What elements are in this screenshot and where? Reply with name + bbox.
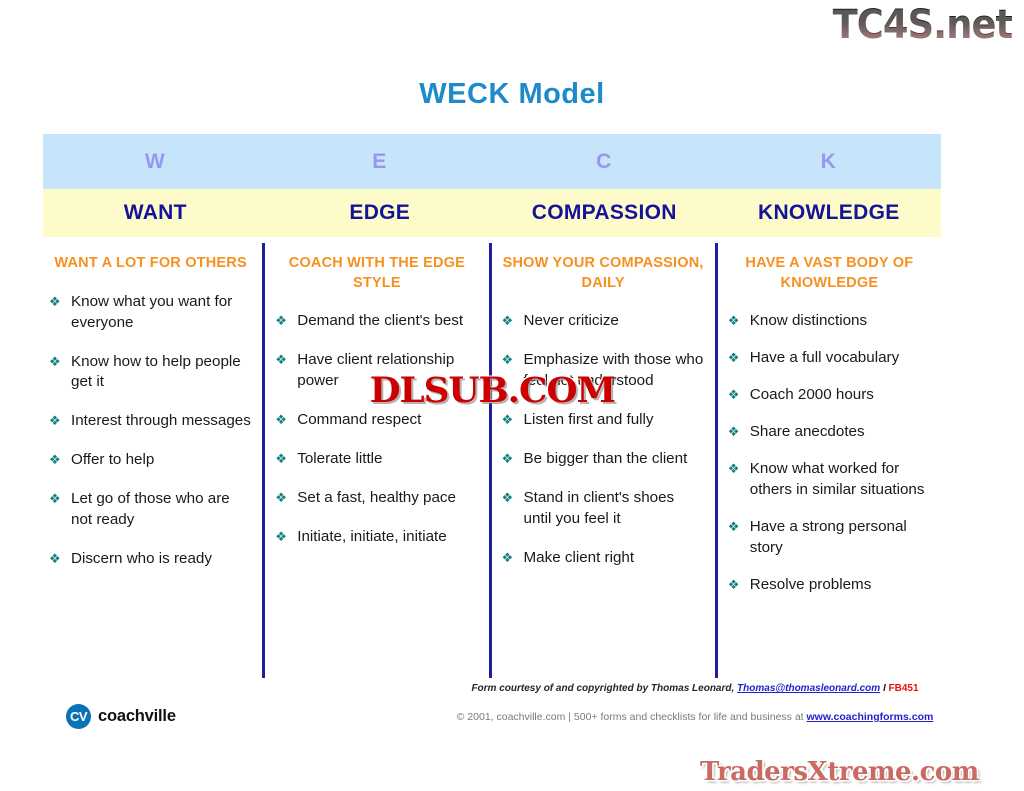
dlsub-watermark-text: DLSUB.COM (370, 370, 615, 411)
list-item: ❖Know what you want for everyone (49, 292, 252, 334)
diamond-bullet-icon: ❖ (728, 517, 740, 537)
column-edge: COACH WITH THE EDGE STYLE ❖Demand the cl… (262, 243, 488, 678)
list-item-label: Know distinctions (750, 312, 867, 329)
column-name-compassion: COMPASSION (532, 201, 677, 225)
name-cell-edge: EDGE (268, 189, 493, 237)
name-cell-want: WANT (43, 189, 268, 237)
diamond-bullet-icon: ❖ (275, 527, 287, 547)
list-item: ❖Know what worked for others in similar … (728, 459, 931, 501)
list-item-label: Have a strong personal story (750, 518, 907, 556)
list-item-label: Set a fast, healthy pace (297, 489, 456, 506)
list-item: ❖Have a strong personal story (728, 517, 931, 559)
letter-cell-c: C (492, 134, 717, 189)
diamond-bullet-icon: ❖ (275, 311, 287, 331)
name-cell-compassion: COMPASSION (492, 189, 717, 237)
diamond-bullet-icon: ❖ (728, 459, 740, 479)
diamond-bullet-icon: ❖ (728, 385, 740, 405)
page-title: WECK Model (0, 78, 1024, 111)
diamond-bullet-icon: ❖ (275, 488, 287, 508)
list-item-label: Know how to help people get it (71, 353, 241, 391)
column-name-edge: EDGE (349, 201, 410, 225)
diamond-bullet-icon: ❖ (728, 348, 740, 368)
diamond-bullet-icon: ❖ (275, 410, 287, 430)
letter-cell-w: W (43, 134, 268, 189)
list-item-label: Stand in client's shoes until you feel i… (524, 489, 675, 527)
footer-credit-separator: I (880, 683, 888, 694)
dlsub-watermark: DLSUB.COM (370, 370, 615, 411)
list-item: ❖Interest through messages (49, 411, 252, 432)
name-cell-knowledge: KNOWLEDGE (717, 189, 942, 237)
list-item: ❖Be bigger than the client (502, 449, 705, 470)
diamond-bullet-icon: ❖ (502, 449, 514, 469)
list-item: ❖Command respect (275, 410, 478, 431)
list-item: ❖Set a fast, healthy pace (275, 488, 478, 509)
bullet-list-compassion: ❖Never criticize ❖Emphasize with those w… (502, 311, 705, 569)
diamond-bullet-icon: ❖ (502, 311, 514, 331)
list-item: ❖Make client right (502, 548, 705, 569)
list-item-label: Resolve problems (750, 576, 872, 593)
diamond-bullet-icon: ❖ (49, 549, 61, 569)
names-header-row: WANT EDGE COMPASSION KNOWLEDGE (43, 189, 941, 237)
diamond-bullet-icon: ❖ (49, 411, 61, 431)
coachingforms-link[interactable]: www.coachingforms.com (807, 711, 934, 723)
list-item-label: Never criticize (524, 312, 619, 329)
column-heading-edge: COACH WITH THE EDGE STYLE (275, 254, 478, 293)
diamond-bullet-icon: ❖ (49, 292, 61, 312)
bullet-list-edge: ❖Demand the client's best ❖Have client r… (275, 311, 478, 548)
diamond-bullet-icon: ❖ (49, 352, 61, 372)
diamond-bullet-icon: ❖ (502, 410, 514, 430)
column-name-want: WANT (124, 201, 187, 225)
diamond-bullet-icon: ❖ (502, 548, 514, 568)
list-item-label: Make client right (524, 549, 635, 566)
list-item: ❖Tolerate little (275, 449, 478, 470)
diamond-bullet-icon: ❖ (502, 488, 514, 508)
list-item-label: Command respect (297, 411, 421, 428)
column-compassion: SHOW YOUR COMPASSION, DAILY ❖Never criti… (489, 243, 715, 678)
list-item: ❖Discern who is ready (49, 549, 252, 570)
list-item-label: Listen first and fully (524, 411, 654, 428)
diamond-bullet-icon: ❖ (275, 449, 287, 469)
list-item: ❖Resolve problems (728, 575, 931, 596)
diamond-bullet-icon: ❖ (728, 422, 740, 442)
list-item-label: Know what you want for everyone (71, 293, 232, 331)
list-item-label: Know what worked for others in similar s… (750, 460, 925, 498)
column-heading-want: WANT A LOT FOR OTHERS (49, 254, 252, 274)
list-item: ❖Let go of those who are not ready (49, 489, 252, 531)
coachville-logo: CV coachville (66, 704, 176, 729)
list-item-label: Have a full vocabulary (750, 349, 899, 366)
list-item-label: Offer to help (71, 451, 154, 468)
column-heading-knowledge: HAVE A VAST BODY OF KNOWLEDGE (728, 254, 931, 293)
diamond-bullet-icon: ❖ (728, 311, 740, 331)
list-item: ❖Share anecdotes (728, 422, 931, 443)
list-item-label: Tolerate little (297, 450, 382, 467)
list-item: ❖Offer to help (49, 450, 252, 471)
column-knowledge: HAVE A VAST BODY OF KNOWLEDGE ❖Know dist… (715, 243, 941, 678)
letter-k: K (821, 150, 837, 174)
list-item: ❖Stand in client's shoes until you feel … (502, 488, 705, 530)
weck-model-table: W E C K WANT EDGE COMPASSION KNOWLEDGE (43, 134, 941, 237)
author-email-link[interactable]: Thomas@thomasleonard.com (737, 683, 880, 694)
footer-credit: Form courtesy of and copyrighted by Thom… (430, 683, 960, 694)
letter-c: C (596, 150, 612, 174)
bullet-list-want: ❖Know what you want for everyone ❖Know h… (49, 292, 252, 571)
list-item: ❖Know distinctions (728, 311, 931, 332)
list-item-label: Initiate, initiate, initiate (297, 528, 446, 545)
list-item-label: Coach 2000 hours (750, 386, 874, 403)
diamond-bullet-icon: ❖ (275, 350, 287, 370)
list-item-label: Demand the client's best (297, 312, 463, 329)
list-item-label: Let go of those who are not ready (71, 490, 230, 528)
footer-copyright: © 2001, coachville.com | 500+ forms and … (380, 711, 1010, 723)
list-item-label: Discern who is ready (71, 550, 212, 567)
footer-copyright-text: © 2001, coachville.com | 500+ forms and … (457, 711, 807, 723)
list-item-label: Be bigger than the client (524, 450, 688, 467)
diamond-bullet-icon: ❖ (49, 489, 61, 509)
list-item: ❖Coach 2000 hours (728, 385, 931, 406)
letter-cell-k: K (717, 134, 942, 189)
list-item: ❖Initiate, initiate, initiate (275, 527, 478, 548)
tradersxtreme-watermark: TradersXtreme.com (700, 757, 979, 787)
list-item: ❖Listen first and fully (502, 410, 705, 431)
letters-header-row: W E C K (43, 134, 941, 189)
column-want: WANT A LOT FOR OTHERS ❖Know what you wan… (43, 243, 262, 678)
list-item: ❖Have a full vocabulary (728, 348, 931, 369)
diamond-bullet-icon: ❖ (728, 575, 740, 595)
coachville-cv-icon: CV (66, 704, 91, 729)
column-name-knowledge: KNOWLEDGE (758, 201, 900, 225)
list-item: ❖Demand the client's best (275, 311, 478, 332)
content-columns: WANT A LOT FOR OTHERS ❖Know what you wan… (43, 243, 941, 678)
letter-cell-e: E (268, 134, 493, 189)
diamond-bullet-icon: ❖ (502, 350, 514, 370)
footer-credit-prefix: Form courtesy of and copyrighted by Thom… (471, 683, 737, 694)
list-item-label: Interest through messages (71, 412, 251, 429)
site-logo: TC4S.net (832, 2, 1012, 48)
form-code: FB451 (889, 683, 919, 694)
bullet-list-knowledge: ❖Know distinctions ❖Have a full vocabula… (728, 311, 931, 596)
coachville-wordmark: coachville (98, 707, 176, 726)
letter-e: E (372, 150, 387, 174)
column-heading-compassion: SHOW YOUR COMPASSION, DAILY (502, 254, 705, 293)
diamond-bullet-icon: ❖ (49, 450, 61, 470)
letter-w: W (145, 150, 166, 174)
list-item: ❖Never criticize (502, 311, 705, 332)
list-item: ❖Know how to help people get it (49, 352, 252, 394)
list-item-label: Share anecdotes (750, 423, 865, 440)
